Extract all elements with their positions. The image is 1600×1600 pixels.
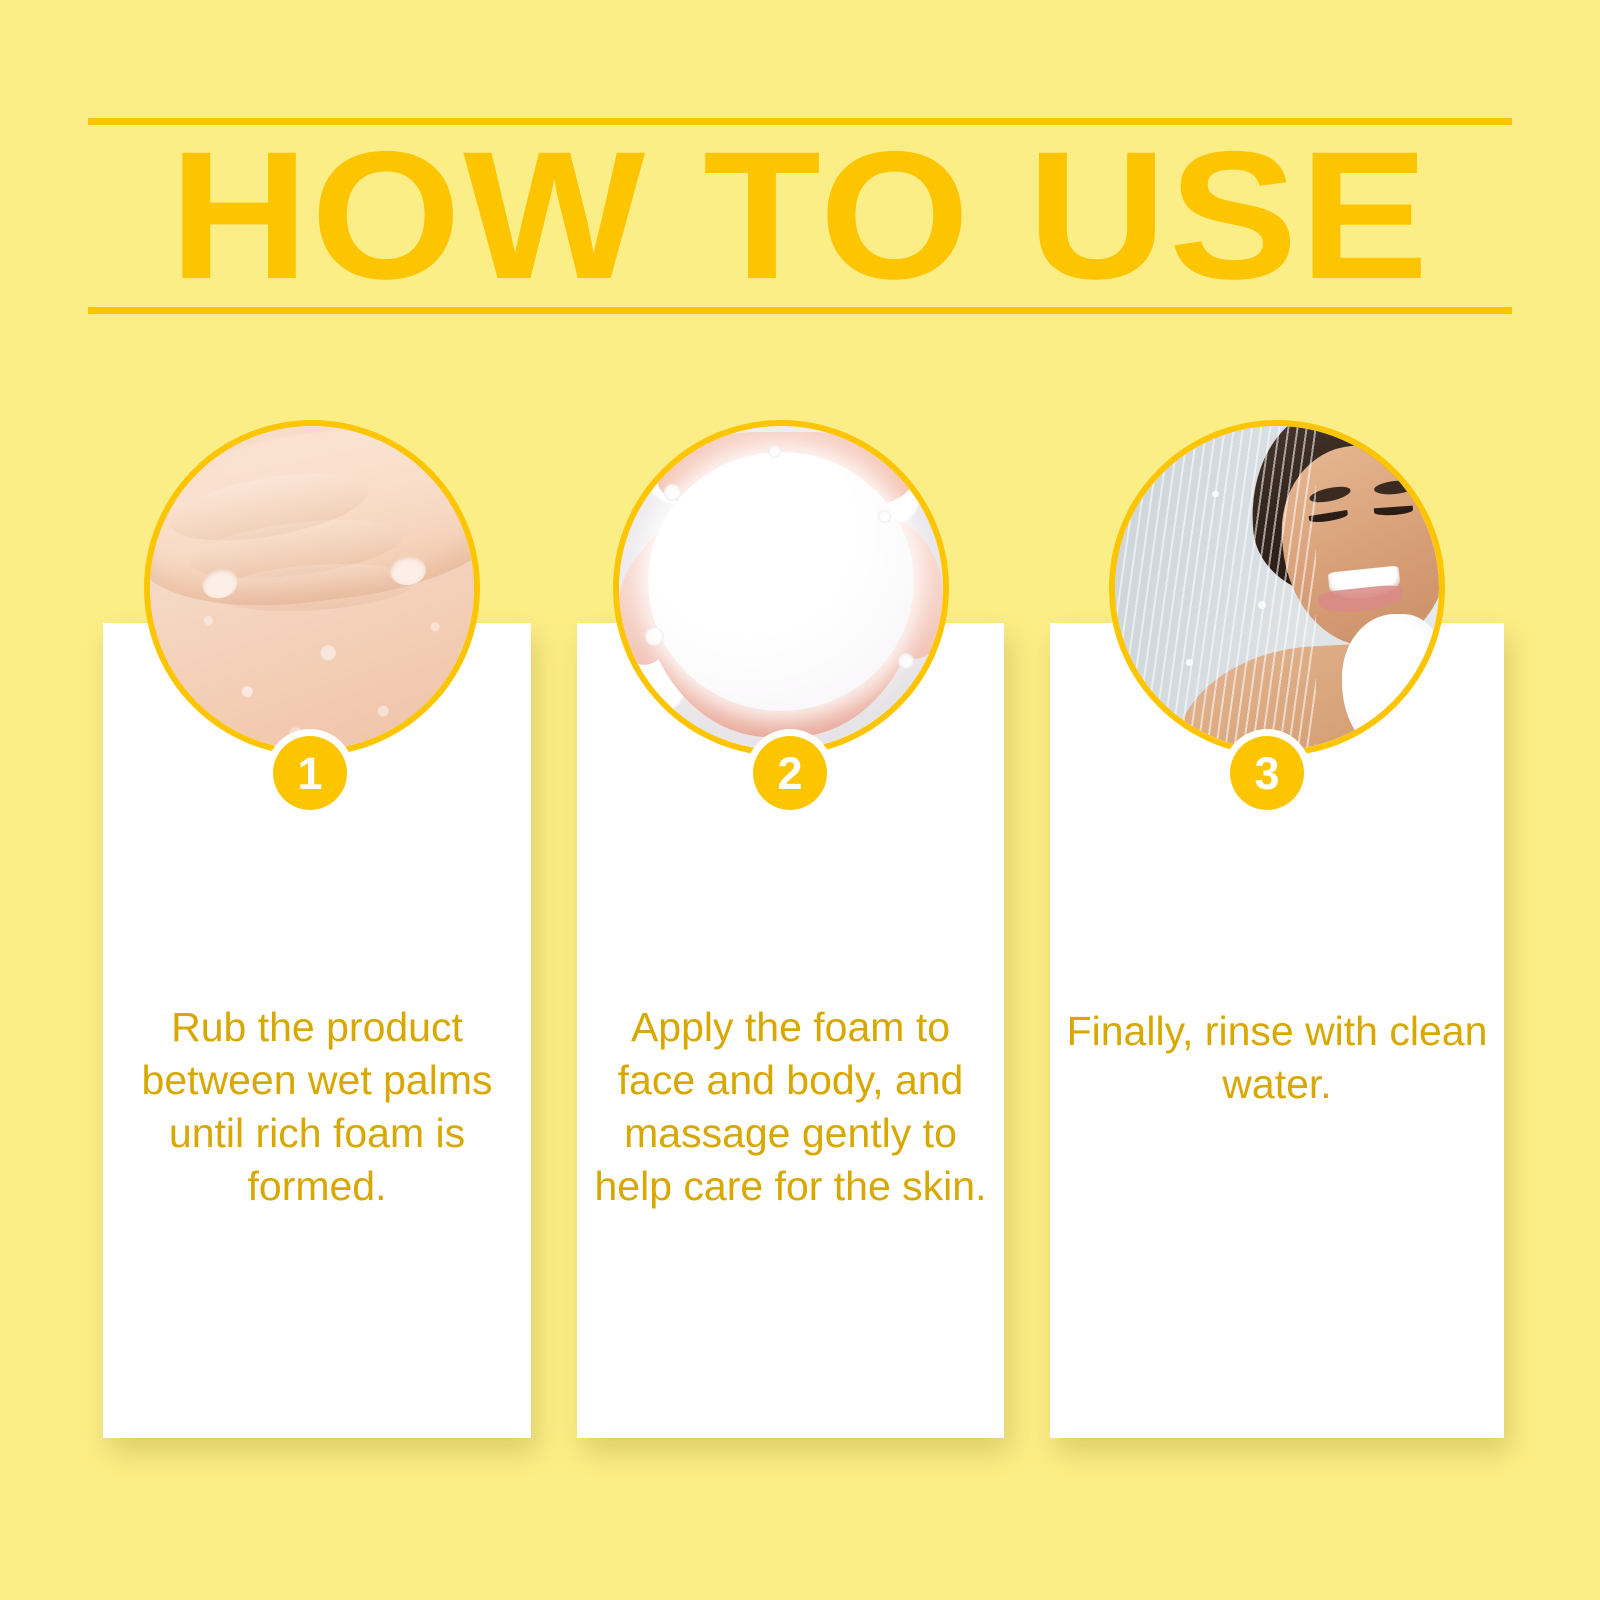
step-badge-2: 2 [753,736,827,810]
step-card-3: Finally, rinse with clean water. [1050,420,1504,1480]
step-card-2: Apply the foam to face and body, and mas… [577,420,1004,1480]
step-description-2: Apply the foam to face and body, and mas… [589,1001,992,1213]
how-to-use-poster: HOW TO USE Rub the product between wet p… [0,0,1600,1600]
page-title: HOW TO USE [45,124,1554,307]
step-image-2 [613,420,949,756]
step-image-1 [144,420,480,756]
hand-on-wet-skin-image [150,426,474,750]
step-description-1: Rub the product between wet palms until … [115,1001,519,1213]
steps-row: Rub the product between wet palms until … [0,420,1600,1480]
step-badge-1: 1 [273,736,347,810]
step-description-3: Finally, rinse with clean water. [1062,1005,1492,1111]
poster-header: HOW TO USE [88,118,1512,314]
woman-rinsing-in-shower-image [1115,426,1439,750]
step-image-3 [1109,420,1445,756]
header-rule-bottom [88,307,1512,314]
foam-in-hands-image [619,426,943,750]
step-badge-3: 3 [1230,736,1304,810]
step-card-1: Rub the product between wet palms until … [103,420,531,1480]
